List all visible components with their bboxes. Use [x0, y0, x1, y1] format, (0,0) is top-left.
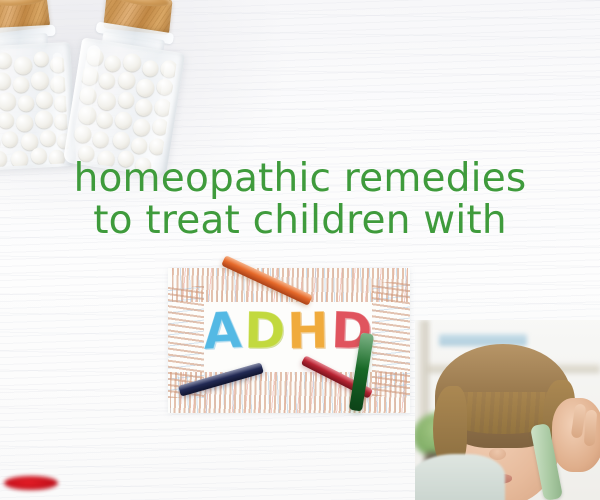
child-shoulder [415, 454, 505, 500]
headline: homeopathic remedies to treat children w… [0, 160, 600, 240]
red-object-blur [4, 476, 58, 490]
letter-d-first: D [243, 306, 287, 357]
letter-a: A [202, 305, 245, 357]
letter-h: H [287, 306, 332, 357]
pellets-left [0, 47, 69, 167]
adhd-letters: ADHD [168, 306, 410, 356]
promo-image: homeopathic remedies to treat children w… [0, 0, 600, 500]
pellets-right [69, 43, 177, 174]
headline-line-1: homeopathic remedies [0, 160, 600, 199]
child-photo [415, 320, 600, 500]
headline-line-2: to treat children with [0, 202, 600, 241]
